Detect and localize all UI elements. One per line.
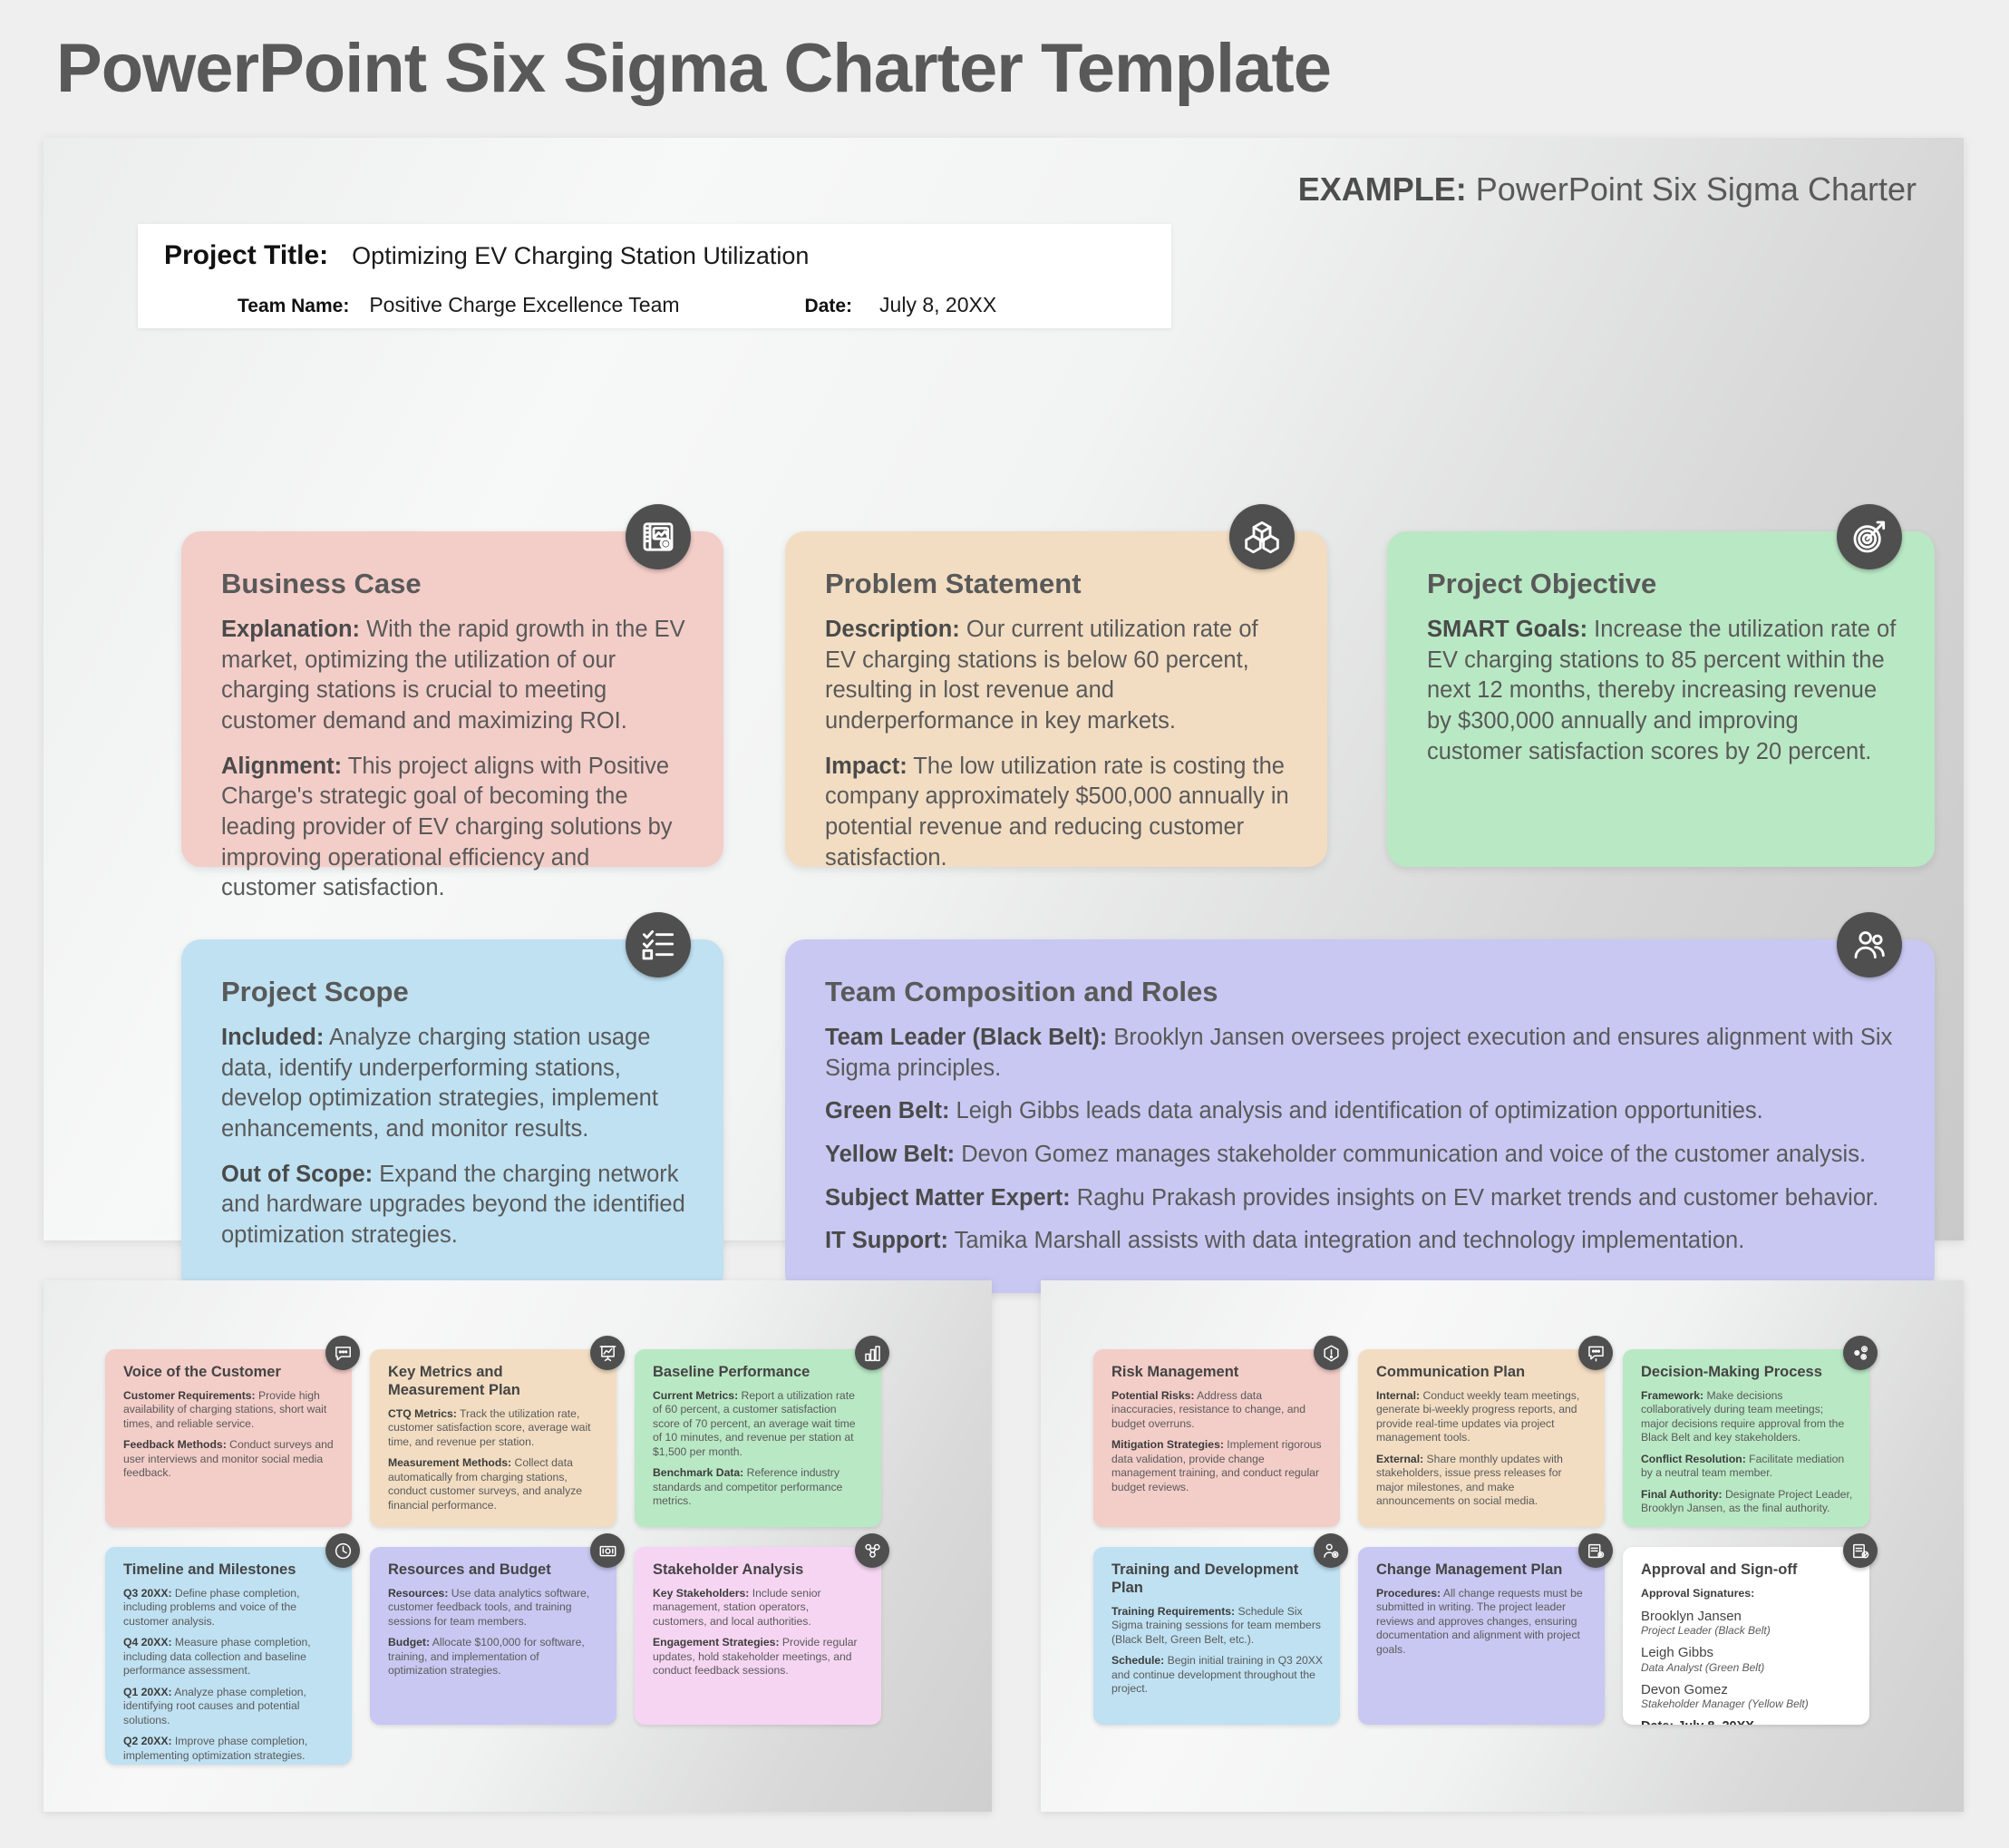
project-title-value[interactable]: Optimizing EV Charging Station Utilizati… [352,242,809,270]
card-paragraph: Q3 20XX: Define phase completion, includ… [123,1587,335,1629]
paragraph-text: Tamika Marshall assists with data integr… [948,1228,1744,1253]
card-paragraph: Green Belt: Leigh Gibbs leads data analy… [825,1096,1898,1127]
paragraph-label: SMART Goals: [1427,617,1587,642]
team-name-label: Team Name: [238,296,349,317]
paragraph-label: External: [1376,1453,1423,1465]
paragraph-label: Resources: [388,1587,448,1600]
paragraph-label: Budget: [388,1636,430,1649]
paragraph-label: Green Belt: [825,1098,949,1123]
date-label: Date: [805,296,853,317]
card-paragraph: Framework: Make decisions collaborativel… [1641,1389,1853,1445]
paragraph-text: Devon Gomez manages stakeholder communic… [955,1142,1866,1167]
paragraph-label: Team Leader (Black Belt): [825,1025,1107,1050]
card-risk-management[interactable]: Risk Management Potential Risks: Address… [1093,1349,1340,1527]
card-paragraph: Included: Analyze charging station usage… [221,1023,687,1145]
target-icon [1837,504,1902,569]
paragraph-label: Mitigation Strategies: [1111,1438,1224,1451]
card-paragraph: Current Metrics: Report a utilization ra… [653,1389,865,1459]
card-paragraph: External: Share monthly updates with sta… [1376,1453,1588,1509]
presentation-chart-icon [590,1336,625,1370]
card-title: Communication Plan [1376,1364,1588,1382]
card-title: Approval and Sign-off [1641,1561,1853,1580]
paragraph-label: Procedures: [1376,1587,1441,1600]
paragraph-label: Measurement Methods: [388,1456,511,1469]
card-project-objective[interactable]: Project Objective SMART Goals: Increase … [1387,531,1935,867]
example-header: EXAMPLE: PowerPoint Six Sigma Charter [1298,170,1917,209]
card-paragraph: Yellow Belt: Devon Gomez manages stakeho… [825,1140,1898,1171]
card-paragraph: Potential Risks: Address data inaccuraci… [1111,1389,1324,1431]
example-prefix: EXAMPLE: [1298,170,1467,208]
card-title: Team Composition and Roles [825,976,1898,1008]
bar-chart-icon [855,1336,889,1370]
card-paragraph: CTQ Metrics: Track the utilization rate,… [388,1407,600,1449]
cubes-icon [1229,504,1295,569]
card-title: Business Case [221,568,687,600]
paragraph-label: IT Support: [825,1228,948,1253]
paragraph-label: Training Requirements: [1111,1605,1235,1618]
card-approval-signoff[interactable]: Approval and Sign-off Approval Signature… [1623,1547,1869,1725]
paragraph-label: Framework: [1641,1389,1703,1402]
paragraph-label: Yellow Belt: [825,1142,955,1167]
card-paragraph: IT Support: Tamika Marshall assists with… [825,1226,1898,1257]
page-title: PowerPoint Six Sigma Charter Template [56,29,1331,108]
paragraph-label: Customer Requirements: [123,1389,256,1402]
paragraph-label: Alignment: [221,754,342,779]
card-change-management[interactable]: Change Management Plan Procedures: All c… [1358,1547,1605,1725]
card-title: Timeline and Milestones [123,1561,335,1580]
card-paragraph: Q1 20XX: Analyze phase completion, ident… [123,1686,335,1727]
card-paragraph: Budget: Allocate $100,000 for software, … [388,1636,600,1678]
card-paragraph: Subject Matter Expert: Raghu Prakash pro… [825,1183,1898,1214]
card-paragraph: Description: Our current utilization rat… [825,615,1291,737]
card-communication-plan[interactable]: Communication Plan Internal: Conduct wee… [1358,1349,1605,1527]
paragraph-label: Subject Matter Expert: [825,1185,1071,1211]
card-paragraph: Schedule: Begin initial training in Q3 2… [1111,1654,1324,1696]
card-key-metrics[interactable]: Key Metrics and Measurement Plan CTQ Met… [370,1349,616,1527]
paragraph-label: Benchmark Data: [653,1466,743,1479]
card-title: Change Management Plan [1376,1561,1588,1580]
card-title: Decision-Making Process [1641,1364,1853,1382]
card-baseline-performance[interactable]: Baseline Performance Current Metrics: Re… [635,1349,881,1527]
card-project-scope[interactable]: Project Scope Included: Analyze charging… [181,939,723,1293]
clock-icon [325,1533,360,1568]
card-paragraph: Mitigation Strategies: Implement rigorou… [1111,1438,1324,1494]
paragraph-text: Raghu Prakash provides insights on EV ma… [1071,1185,1879,1211]
paragraph-label: Potential Risks: [1111,1389,1194,1402]
team-name-value[interactable]: Positive Charge Excellence Team [369,293,679,317]
signature-role: Data Analyst (Green Belt) [1641,1661,1853,1674]
paragraph-label: Schedule: [1111,1654,1164,1667]
card-paragraph: Resources: Use data analytics software, … [388,1587,600,1629]
paragraph-label: Conflict Resolution: [1641,1453,1746,1465]
card-paragraph: Training Requirements: Schedule Six Sigm… [1111,1605,1324,1647]
signature-role: Project Leader (Black Belt) [1641,1624,1853,1637]
paragraph-label: Engagement Strategies: [653,1636,780,1649]
people-icon [1837,912,1902,977]
document-check-icon [1843,1533,1878,1568]
signature-name: Devon Gomez [1641,1682,1853,1697]
checklist-icon [626,912,691,977]
title-block: Project Title: Optimizing EV Charging St… [138,224,1171,328]
card-title: Key Metrics and Measurement Plan [388,1364,600,1400]
card-paragraph: Out of Scope: Expand the charging networ… [221,1160,687,1251]
main-slide: EXAMPLE: PowerPoint Six Sigma Charter Pr… [44,138,1964,1240]
team-date-row: Team Name: Positive Charge Excellence Te… [238,293,996,317]
left-slide: Voice of the Customer Customer Requireme… [44,1280,992,1812]
example-title: PowerPoint Six Sigma Charter [1467,170,1917,208]
approval-date: Date: July 8, 20XX [1641,1719,1853,1725]
approval-signatures-label: Approval Signatures: [1641,1587,1853,1600]
report-image-icon [626,504,691,569]
card-paragraph: Engagement Strategies: Provide regular u… [653,1636,865,1678]
paragraph-label: CTQ Metrics: [388,1407,457,1420]
card-paragraph: Customer Requirements: Provide high avai… [123,1389,335,1431]
card-title: Resources and Budget [388,1561,600,1580]
card-title: Problem Statement [825,568,1291,600]
signature-role: Stakeholder Manager (Yellow Belt) [1641,1697,1853,1710]
signature-name: Leigh Gibbs [1641,1645,1853,1660]
card-paragraph: Key Stakeholders: Include senior managem… [653,1587,865,1629]
signature-name: Brooklyn Jansen [1641,1609,1853,1624]
card-paragraph: Internal: Conduct weekly team meetings, … [1376,1389,1588,1445]
card-paragraph: Impact: The low utilization rate is cost… [825,752,1291,874]
warning-shield-icon [1314,1336,1348,1370]
card-title: Project Objective [1427,568,1898,600]
slide-deck-page: PowerPoint Six Sigma Charter Template EX… [0,0,2009,1848]
card-paragraph: Team Leader (Black Belt): Brooklyn Janse… [825,1023,1898,1084]
card-voice-of-customer[interactable]: Voice of the Customer Customer Requireme… [105,1349,352,1527]
date-value[interactable]: July 8, 20XX [879,293,996,317]
document-gear-icon [1578,1533,1613,1568]
card-title: Stakeholder Analysis [653,1561,865,1580]
person-gear-icon [1314,1533,1348,1568]
paragraph-label: Key Stakeholders: [653,1587,749,1600]
project-title-label: Project Title: [164,240,328,271]
card-timeline-milestones[interactable]: Timeline and Milestones Q3 20XX: Define … [105,1547,352,1765]
paragraph-label: Out of Scope: [221,1162,373,1187]
card-resources-budget[interactable]: Resources and Budget Resources: Use data… [370,1547,616,1725]
card-business-case[interactable]: Business Case Explanation: With the rapi… [181,531,723,867]
card-title: Baseline Performance [653,1364,865,1382]
card-paragraph: Conflict Resolution: Facilitate mediatio… [1641,1453,1853,1481]
gears-people-icon [1843,1336,1878,1370]
card-paragraph: Final Authority: Designate Project Leade… [1641,1488,1853,1516]
card-problem-statement[interactable]: Problem Statement Description: Our curre… [785,531,1327,867]
card-title: Risk Management [1111,1364,1324,1382]
card-paragraph: SMART Goals: Increase the utilization ra… [1427,615,1898,767]
paragraph-label: Q1 20XX: [123,1686,172,1698]
paragraph-label: Final Authority: [1641,1488,1723,1501]
paragraph-label: Included: [221,1025,324,1050]
card-paragraph: Feedback Methods: Conduct surveys and us… [123,1438,335,1480]
card-training-plan[interactable]: Training and Development Plan Training R… [1093,1547,1340,1725]
project-title-row: Project Title: Optimizing EV Charging St… [164,240,809,271]
paragraph-label: Q3 20XX: [123,1587,172,1600]
right-slide: Risk Management Potential Risks: Address… [1041,1280,1964,1812]
paragraph-label: Q4 20XX: [123,1636,172,1649]
card-title: Project Scope [221,976,687,1008]
card-paragraph: Measurement Methods: Collect data automa… [388,1456,600,1512]
card-paragraph: Alignment: This project aligns with Posi… [221,752,687,904]
card-decision-making[interactable]: Decision-Making Process Framework: Make … [1623,1349,1869,1527]
card-paragraph: Q2 20XX: Improve phase completion, imple… [123,1735,335,1763]
card-stakeholder-analysis[interactable]: Stakeholder Analysis Key Stakeholders: I… [635,1547,881,1725]
stakeholders-icon [855,1533,889,1568]
paragraph-label: Current Metrics: [653,1389,738,1402]
speech-bubble-icon [325,1336,360,1370]
card-title: Voice of the Customer [123,1364,335,1382]
paragraph-label: Impact: [825,754,907,779]
card-paragraph: Q4 20XX: Measure phase completion, inclu… [123,1636,335,1678]
money-icon [590,1533,625,1568]
paragraph-label: Feedback Methods: [123,1438,227,1451]
paragraph-label: Internal: [1376,1389,1420,1402]
card-paragraph: Benchmark Data: Reference industry stand… [653,1466,865,1508]
paragraph-label: Explanation: [221,617,360,642]
card-paragraph: Explanation: With the rapid growth in th… [221,615,687,737]
speech-monitor-icon [1578,1336,1613,1370]
card-title: Training and Development Plan [1111,1561,1324,1598]
card-team-composition[interactable]: Team Composition and Roles Team Leader (… [785,939,1935,1293]
paragraph-text: Leigh Gibbs leads data analysis and iden… [949,1098,1762,1123]
paragraph-label: Description: [825,617,960,642]
paragraph-label: Q2 20XX: [123,1735,172,1747]
card-paragraph: Procedures: All change requests must be … [1376,1587,1588,1657]
